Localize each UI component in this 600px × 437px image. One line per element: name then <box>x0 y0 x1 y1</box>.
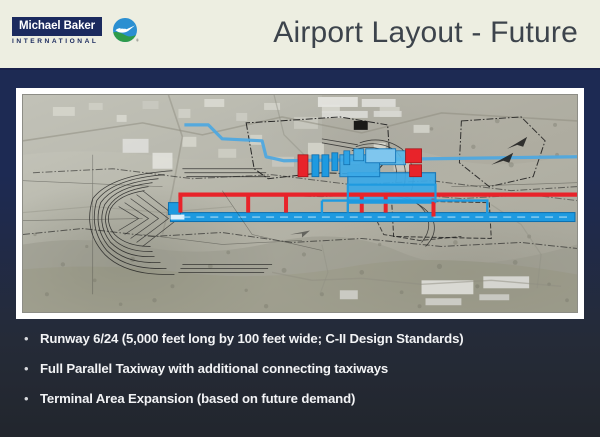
runway-6-24 <box>168 203 575 222</box>
logo-company-subtitle: INTERNATIONAL <box>12 39 102 46</box>
slide: Michael Baker INTERNATIONAL ® <box>0 0 600 437</box>
list-item: • Terminal Area Expansion (based on futu… <box>24 390 564 407</box>
logo-company-name: Michael Baker <box>12 17 102 36</box>
map-overlay-graphics <box>23 95 577 313</box>
bullet-text: Runway 6/24 (5,000 feet long by 100 feet… <box>40 330 464 347</box>
bullet-marker: • <box>24 390 40 407</box>
list-item: • Runway 6/24 (5,000 feet long by 100 fe… <box>24 330 564 347</box>
list-item: • Full Parallel Taxiway with additional … <box>24 360 564 377</box>
airport-aerial-map <box>22 94 578 313</box>
michael-baker-wordmark: Michael Baker INTERNATIONAL <box>12 17 102 46</box>
globe-bird-icon: ® <box>111 17 139 45</box>
slide-header: Michael Baker INTERNATIONAL ® <box>0 0 600 70</box>
svg-text:®: ® <box>136 39 139 43</box>
page-title: Airport Layout - Future <box>273 16 578 50</box>
bullet-text: Full Parallel Taxiway with additional co… <box>40 360 388 377</box>
company-logo: Michael Baker INTERNATIONAL ® <box>12 17 139 46</box>
bullet-marker: • <box>24 360 40 377</box>
bullet-list: • Runway 6/24 (5,000 feet long by 100 fe… <box>24 330 564 420</box>
bullet-text: Terminal Area Expansion (based on future… <box>40 390 355 407</box>
bullet-marker: • <box>24 330 40 347</box>
map-image-frame <box>16 88 584 319</box>
